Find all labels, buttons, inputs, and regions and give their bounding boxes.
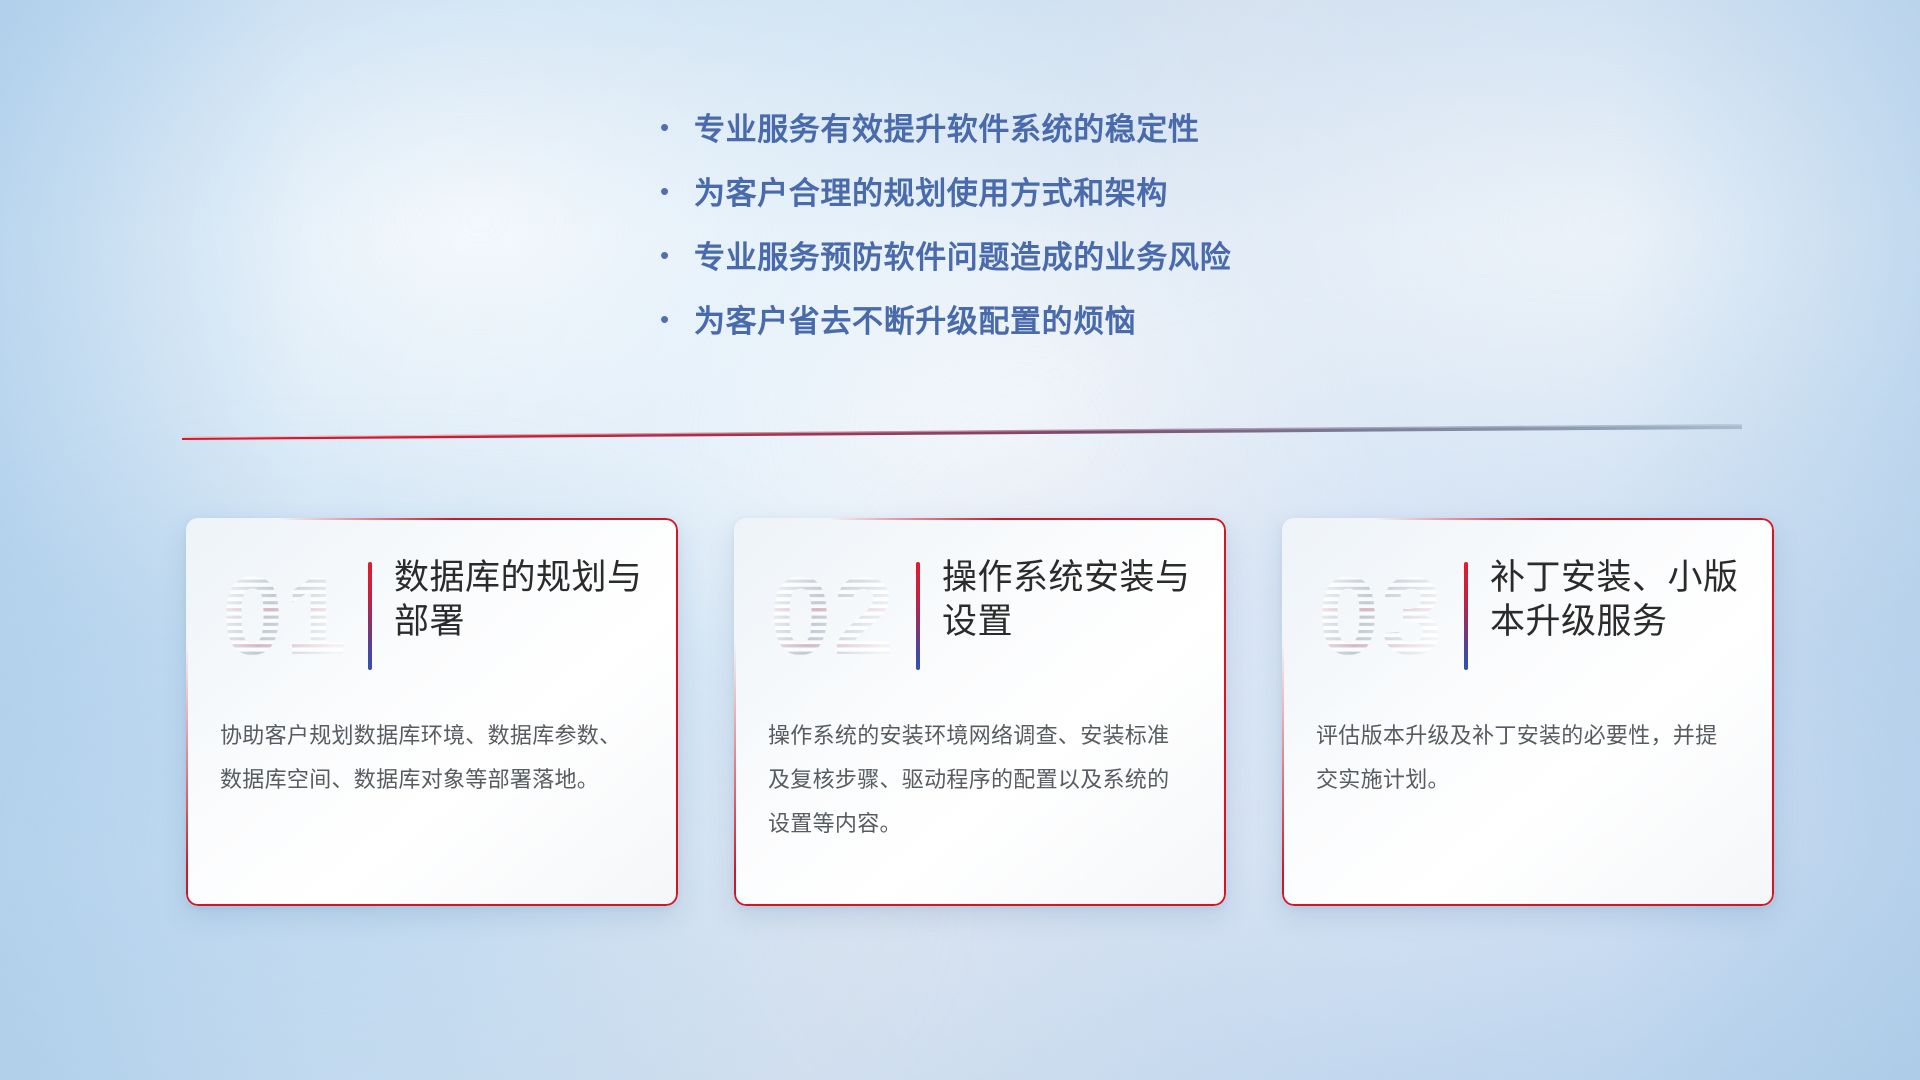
card-title: 操作系统安装与设置 xyxy=(942,554,1192,645)
card-description: 协助客户规划数据库环境、数据库参数、数据库空间、数据库对象等部署落地。 xyxy=(220,714,644,802)
service-card[interactable]: 02 操作系统安 xyxy=(734,518,1226,906)
service-card-list: 01 数据库的规 xyxy=(186,518,1774,906)
card-number-graphic: 01 xyxy=(220,558,352,676)
card-description: 评估版本升级及补丁安装的必要性，并提交实施计划。 xyxy=(1316,714,1740,802)
bullet-dot-icon: • xyxy=(660,306,694,332)
service-card[interactable]: 01 数据库的规 xyxy=(186,518,678,906)
card-number-graphic: 03 xyxy=(1316,558,1448,676)
bullet-item: • 为客户合理的规划使用方式和架构 xyxy=(660,168,1231,232)
bullet-dot-icon: • xyxy=(660,114,694,140)
card-title: 数据库的规划与部署 xyxy=(394,554,644,645)
bullet-item-label: 为客户合理的规划使用方式和架构 xyxy=(694,168,1168,213)
bullet-dot-icon: • xyxy=(660,242,694,268)
card-header: 01 数据库的规 xyxy=(220,554,644,680)
section-divider xyxy=(182,424,1742,440)
bullet-item: • 为客户省去不断升级配置的烦恼 xyxy=(660,296,1231,360)
card-description: 操作系统的安装环境网络调查、安装标准及复核步骤、驱动程序的配置以及系统的设置等内… xyxy=(768,714,1192,846)
slide-canvas: • 专业服务有效提升软件系统的稳定性 • 为客户合理的规划使用方式和架构 • 专… xyxy=(0,0,1920,1080)
bullet-item-label: 为客户省去不断升级配置的烦恼 xyxy=(694,296,1136,341)
card-accent-bar xyxy=(916,562,920,670)
card-accent-bar xyxy=(1464,562,1468,670)
bullet-item-label: 专业服务预防软件问题造成的业务风险 xyxy=(694,232,1231,277)
card-number-graphic: 02 xyxy=(768,558,900,676)
card-header: 03 补丁安装、 xyxy=(1316,554,1740,680)
bullet-item: • 专业服务预防软件问题造成的业务风险 xyxy=(660,232,1231,296)
bullet-item-label: 专业服务有效提升软件系统的稳定性 xyxy=(694,104,1200,149)
card-header: 02 操作系统安 xyxy=(768,554,1192,680)
card-title: 补丁安装、小版本升级服务 xyxy=(1490,554,1740,645)
bullet-list: • 专业服务有效提升软件系统的稳定性 • 为客户合理的规划使用方式和架构 • 专… xyxy=(660,104,1231,360)
service-card[interactable]: 03 补丁安装、 xyxy=(1282,518,1774,906)
bullet-dot-icon: • xyxy=(660,178,694,204)
card-accent-bar xyxy=(368,562,372,670)
bullet-item: • 专业服务有效提升软件系统的稳定性 xyxy=(660,104,1231,168)
